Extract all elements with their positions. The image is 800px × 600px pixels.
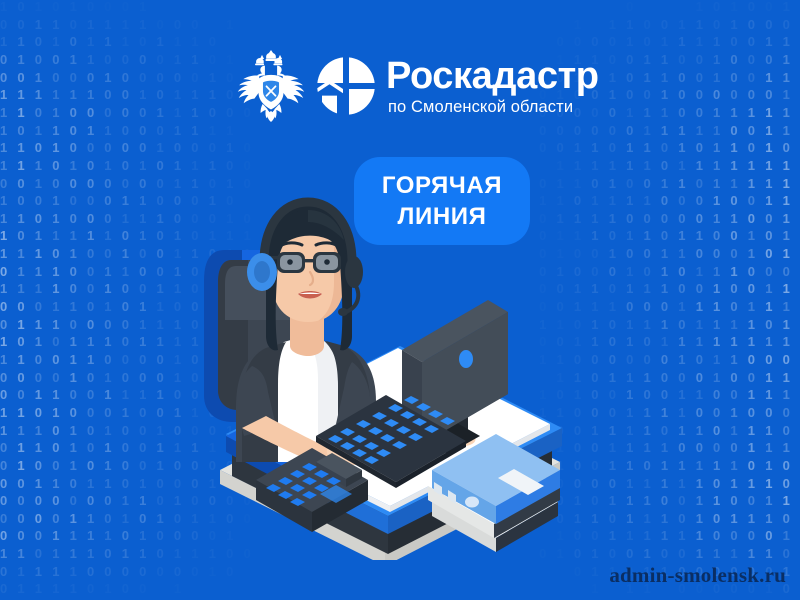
binary-digit: 0 <box>70 406 77 419</box>
binary-digit: 1 <box>661 529 668 542</box>
binary-digit: 1 <box>17 35 24 48</box>
binary-digit: 1 <box>696 388 703 401</box>
binary-digit: 1 <box>730 141 737 154</box>
binary-digit: 0 <box>730 229 737 242</box>
binary-digit: 1 <box>174 35 181 48</box>
binary-digit: 1 <box>174 582 181 595</box>
binary-digit: 0 <box>696 53 703 66</box>
binary-digit: 0 <box>122 282 129 295</box>
binary-digit: 1 <box>139 477 146 490</box>
binary-digit: 1 <box>104 159 111 172</box>
binary-digit: 0 <box>122 353 129 366</box>
binary-digit: 1 <box>35 0 42 13</box>
binary-digit: 1 <box>139 300 146 313</box>
roskadastr-house-circle-mark-icon <box>316 56 376 116</box>
binary-digit: 0 <box>765 265 772 278</box>
binary-digit: 0 <box>748 494 755 507</box>
binary-digit: 0 <box>765 318 772 331</box>
binary-digit: 0 <box>17 18 24 31</box>
binary-digit: 0 <box>765 529 772 542</box>
binary-digit: 0 <box>139 106 146 119</box>
binary-digit: 0 <box>748 35 755 48</box>
binary-digit: 0 <box>17 477 24 490</box>
binary-digit: 1 <box>783 0 790 13</box>
binary-digit: 1 <box>661 441 668 454</box>
binary-digit: 1 <box>765 71 772 84</box>
binary-digit: 0 <box>730 300 737 313</box>
binary-digit: 1 <box>713 282 720 295</box>
binary-digit: 0 <box>626 547 633 560</box>
binary-digit: 1 <box>783 247 790 260</box>
binary-digit: 0 <box>574 565 581 578</box>
binary-digit: 1 <box>644 194 651 207</box>
binary-digit: 1 <box>35 565 42 578</box>
binary-digit: 0 <box>661 18 668 31</box>
binary-digit: 1 <box>713 35 720 48</box>
binary-digit: 1 <box>104 124 111 137</box>
binary-digit: 1 <box>626 335 633 348</box>
binary-digit: 0 <box>748 141 755 154</box>
binary-digit: 0 <box>226 106 233 119</box>
binary-digit: 0 <box>678 53 685 66</box>
binary-digit: 1 <box>70 371 77 384</box>
binary-digit: 1 <box>713 547 720 560</box>
binary-digit: 0 <box>696 194 703 207</box>
binary-digit: 0 <box>139 353 146 366</box>
binary-digit: 1 <box>678 459 685 472</box>
binary-digit: 0 <box>17 124 24 137</box>
binary-digit: 1 <box>52 194 59 207</box>
binary-digit: 1 <box>157 35 164 48</box>
binary-digit: 1 <box>765 494 772 507</box>
binary-digit: 0 <box>122 459 129 472</box>
binary-digit: 1 <box>661 406 668 419</box>
binary-digit: 0 <box>644 265 651 278</box>
binary-digit: 0 <box>591 35 598 48</box>
binary-digit: 0 <box>0 18 7 31</box>
binary-digit: 0 <box>139 282 146 295</box>
binary-digit: 1 <box>713 300 720 313</box>
binary-digit: 0 <box>713 88 720 101</box>
binary-digit: 1 <box>52 141 59 154</box>
binary-digit: 1 <box>783 177 790 190</box>
binary-digit: 0 <box>730 388 737 401</box>
hotline-poster: 1010100010101001001101111000111100110100… <box>0 0 800 600</box>
binary-digit: 1 <box>17 441 24 454</box>
binary-digit: 1 <box>713 335 720 348</box>
binary-digit: 1 <box>626 477 633 490</box>
binary-digit: 1 <box>191 53 198 66</box>
binary-digit: 0 <box>678 212 685 225</box>
binary-digit: 0 <box>52 371 59 384</box>
binary-digit: 1 <box>139 194 146 207</box>
binary-digit: 1 <box>748 318 755 331</box>
binary-digit: 1 <box>661 477 668 490</box>
binary-digit: 0 <box>122 424 129 437</box>
binary-digit: 0 <box>626 247 633 260</box>
binary-digit: 0 <box>626 71 633 84</box>
binary-digit: 1 <box>730 212 737 225</box>
binary-digit: 0 <box>17 512 24 525</box>
binary-digit: 1 <box>209 565 216 578</box>
binary-digit: 0 <box>139 406 146 419</box>
binary-digit: 1 <box>783 229 790 242</box>
binary-digit: 0 <box>713 424 720 437</box>
binary-digit: 0 <box>52 159 59 172</box>
binary-digit: 1 <box>17 141 24 154</box>
binary-digit: 0 <box>52 53 59 66</box>
binary-digit: 1 <box>157 459 164 472</box>
binary-digit: 0 <box>139 53 146 66</box>
binary-digit: 1 <box>52 300 59 313</box>
binary-digit: 0 <box>35 512 42 525</box>
binary-digit: 1 <box>87 477 94 490</box>
binary-digit: 1 <box>0 229 7 242</box>
binary-digit: 0 <box>35 194 42 207</box>
binary-digit: 1 <box>661 177 668 190</box>
binary-digit: 0 <box>87 141 94 154</box>
binary-digit: 0 <box>0 529 7 542</box>
binary-digit: 1 <box>678 141 685 154</box>
binary-digit: 1 <box>713 106 720 119</box>
binary-digit: 1 <box>226 124 233 137</box>
binary-digit: 1 <box>678 406 685 419</box>
binary-digit: 1 <box>104 371 111 384</box>
binary-digit: 0 <box>748 371 755 384</box>
binary-digit: 0 <box>35 141 42 154</box>
binary-digit: 1 <box>174 124 181 137</box>
binary-digit: 0 <box>748 194 755 207</box>
binary-digit: 0 <box>70 318 77 331</box>
binary-digit: 0 <box>730 71 737 84</box>
binary-digit: 1 <box>139 529 146 542</box>
binary-digit: 1 <box>0 106 7 119</box>
binary-digit: 1 <box>748 335 755 348</box>
binary-digit: 1 <box>626 265 633 278</box>
binary-digit: 1 <box>661 53 668 66</box>
binary-digit: 1 <box>644 141 651 154</box>
binary-digit: 1 <box>626 512 633 525</box>
binary-digit: 1 <box>52 529 59 542</box>
binary-digit: 1 <box>0 212 7 225</box>
binary-digit: 1 <box>87 229 94 242</box>
binary-digit: 1 <box>17 106 24 119</box>
binary-digit: 1 <box>696 159 703 172</box>
binary-digit: 0 <box>661 424 668 437</box>
binary-digit: 1 <box>52 88 59 101</box>
binary-digit: 1 <box>644 512 651 525</box>
binary-digit: 0 <box>0 388 7 401</box>
binary-digit: 1 <box>765 300 772 313</box>
binary-digit: 0 <box>0 494 7 507</box>
binary-digit: 0 <box>139 35 146 48</box>
binary-digit: 0 <box>730 282 737 295</box>
binary-digit: 1 <box>157 441 164 454</box>
binary-digit: 0 <box>783 477 790 490</box>
binary-digit: 0 <box>35 212 42 225</box>
binary-digit: 1 <box>35 582 42 595</box>
binary-digit: 1 <box>748 229 755 242</box>
binary-digit: 0 <box>87 441 94 454</box>
binary-digit: 0 <box>748 212 755 225</box>
binary-digit: 1 <box>104 71 111 84</box>
binary-digit: 1 <box>104 229 111 242</box>
binary-digit: 1 <box>226 53 233 66</box>
binary-digit: 0 <box>765 88 772 101</box>
binary-digit: 1 <box>644 424 651 437</box>
binary-digit: 0 <box>87 494 94 507</box>
binary-digit: 1 <box>765 371 772 384</box>
binary-digit: 1 <box>0 35 7 48</box>
call-center-operator-illustration <box>180 140 620 560</box>
binary-digit: 0 <box>139 177 146 190</box>
binary-digit: 0 <box>157 247 164 260</box>
binary-digit: 1 <box>678 388 685 401</box>
binary-digit: 1 <box>87 512 94 525</box>
binary-digit: 1 <box>713 494 720 507</box>
binary-digit: 1 <box>696 318 703 331</box>
binary-digit: 0 <box>209 53 216 66</box>
binary-digit: 0 <box>748 406 755 419</box>
binary-digit: 0 <box>35 353 42 366</box>
binary-digit: 0 <box>191 71 198 84</box>
binary-digit: 1 <box>157 212 164 225</box>
binary-digit: 0 <box>748 265 755 278</box>
binary-digit: 1 <box>730 0 737 13</box>
binary-digit: 1 <box>0 282 7 295</box>
binary-digit: 1 <box>783 71 790 84</box>
binary-digit: 1 <box>0 88 7 101</box>
binary-digit: 0 <box>696 88 703 101</box>
binary-digit: 1 <box>70 582 77 595</box>
binary-digit: 0 <box>783 406 790 419</box>
binary-digit: 0 <box>748 88 755 101</box>
binary-digit: 1 <box>52 547 59 560</box>
binary-digit: 0 <box>609 53 616 66</box>
binary-digit: 0 <box>52 0 59 13</box>
binary-digit: 0 <box>157 494 164 507</box>
binary-digit: 0 <box>17 494 24 507</box>
binary-digit: 0 <box>661 300 668 313</box>
binary-digit: 1 <box>0 0 7 13</box>
binary-digit: 1 <box>661 71 668 84</box>
binary-digit: 1 <box>70 300 77 313</box>
binary-digit: 0 <box>678 88 685 101</box>
binary-digit: 0 <box>139 565 146 578</box>
binary-digit: 0 <box>730 88 737 101</box>
binary-digit: 1 <box>52 406 59 419</box>
binary-digit: 0 <box>70 265 77 278</box>
binary-digit: 0 <box>226 88 233 101</box>
binary-digit: 1 <box>591 582 598 595</box>
binary-digit: 0 <box>52 441 59 454</box>
binary-digit: 1 <box>644 529 651 542</box>
binary-digit: 1 <box>713 53 720 66</box>
binary-digit: 1 <box>730 318 737 331</box>
binary-digit: 1 <box>52 565 59 578</box>
binary-digit: 0 <box>191 565 198 578</box>
binary-digit: 1 <box>157 300 164 313</box>
binary-digit: 1 <box>0 547 7 560</box>
binary-digit: 0 <box>765 212 772 225</box>
binary-digit: 1 <box>765 388 772 401</box>
binary-digit: 0 <box>626 177 633 190</box>
binary-digit: 1 <box>626 159 633 172</box>
binary-digit: 1 <box>730 353 737 366</box>
binary-digit: 0 <box>748 18 755 31</box>
binary-digit: 0 <box>0 459 7 472</box>
binary-digit: 0 <box>157 353 164 366</box>
binary-digit: 1 <box>104 529 111 542</box>
binary-digit: 1 <box>696 512 703 525</box>
binary-digit: 0 <box>574 124 581 137</box>
binary-digit: 1 <box>0 247 7 260</box>
binary-digit: 1 <box>661 35 668 48</box>
binary-digit: 1 <box>139 494 146 507</box>
binary-digit: 0 <box>574 35 581 48</box>
binary-digit: 0 <box>70 282 77 295</box>
binary-digit: 1 <box>35 318 42 331</box>
binary-digit: 1 <box>157 106 164 119</box>
binary-digit: 0 <box>730 53 737 66</box>
binary-digit: 1 <box>661 106 668 119</box>
binary-digit: 1 <box>139 0 146 13</box>
binary-digit: 0 <box>678 512 685 525</box>
binary-digit: 0 <box>783 18 790 31</box>
binary-digit: 1 <box>713 141 720 154</box>
binary-digit: 1 <box>0 124 7 137</box>
binary-digit: 1 <box>748 424 755 437</box>
binary-digit: 1 <box>696 124 703 137</box>
binary-digit: 1 <box>730 477 737 490</box>
binary-digit: 1 <box>626 141 633 154</box>
binary-digit: 1 <box>87 18 94 31</box>
binary-digit: 0 <box>730 371 737 384</box>
binary-digit: 1 <box>0 424 7 437</box>
binary-digit: 0 <box>70 212 77 225</box>
binary-digit: 0 <box>35 547 42 560</box>
binary-digit: 0 <box>122 300 129 313</box>
binary-digit: 0 <box>174 71 181 84</box>
binary-digit: 1 <box>139 318 146 331</box>
binary-digit: 0 <box>157 159 164 172</box>
binary-digit: 1 <box>783 194 790 207</box>
binary-digit: 0 <box>157 406 164 419</box>
binary-digit: 1 <box>35 229 42 242</box>
binary-digit: 1 <box>104 477 111 490</box>
binary-digit: 1 <box>191 124 198 137</box>
binary-digit: 1 <box>748 512 755 525</box>
binary-digit: 1 <box>783 124 790 137</box>
binary-digit: 0 <box>122 141 129 154</box>
binary-digit: 1 <box>783 88 790 101</box>
binary-digit: 1 <box>644 124 651 137</box>
binary-digit: 1 <box>644 441 651 454</box>
binary-digit: 0 <box>174 565 181 578</box>
binary-digit: 0 <box>644 35 651 48</box>
binary-digit: 1 <box>626 406 633 419</box>
binary-digit: 1 <box>70 512 77 525</box>
binary-digit: 1 <box>157 141 164 154</box>
binary-digit: 0 <box>139 247 146 260</box>
binary-digit: 1 <box>35 124 42 137</box>
binary-digit: 1 <box>609 71 616 84</box>
binary-digit: 0 <box>696 441 703 454</box>
binary-digit: 0 <box>0 71 7 84</box>
binary-digit: 0 <box>35 494 42 507</box>
binary-digit: 1 <box>713 459 720 472</box>
binary-digit: 1 <box>696 459 703 472</box>
russian-double-headed-eagle-emblem-icon <box>236 50 306 122</box>
binary-digit: 0 <box>748 459 755 472</box>
binary-digit: 0 <box>104 194 111 207</box>
binary-digit: 1 <box>783 300 790 313</box>
binary-digit: 1 <box>70 424 77 437</box>
binary-digit: 0 <box>17 71 24 84</box>
binary-digit: 1 <box>678 335 685 348</box>
binary-digit: 0 <box>713 441 720 454</box>
binary-digit: 1 <box>765 35 772 48</box>
binary-digit: 0 <box>644 177 651 190</box>
binary-digit: 0 <box>104 565 111 578</box>
binary-digit: 0 <box>226 565 233 578</box>
binary-digit: 1 <box>713 371 720 384</box>
binary-digit: 1 <box>174 106 181 119</box>
binary-digit: 0 <box>122 229 129 242</box>
binary-digit: 0 <box>157 565 164 578</box>
binary-digit: 0 <box>696 141 703 154</box>
binary-digit: 0 <box>0 371 7 384</box>
binary-digit: 1 <box>122 194 129 207</box>
binary-digit: 0 <box>696 106 703 119</box>
binary-digit: 0 <box>661 159 668 172</box>
binary-digit: 0 <box>87 212 94 225</box>
binary-digit: 1 <box>678 353 685 366</box>
binary-digit: 0 <box>139 371 146 384</box>
binary-digit: 1 <box>644 477 651 490</box>
binary-digit: 0 <box>139 512 146 525</box>
binary-digit: 1 <box>17 459 24 472</box>
binary-digit: 0 <box>157 265 164 278</box>
binary-digit: 0 <box>713 0 720 13</box>
binary-digit: 0 <box>122 371 129 384</box>
binary-digit: 0 <box>52 177 59 190</box>
binary-digit: 0 <box>713 229 720 242</box>
binary-digit: 0 <box>0 300 7 313</box>
binary-digit: 0 <box>0 477 7 490</box>
binary-digit: 0 <box>0 565 7 578</box>
binary-digit: 1 <box>730 424 737 437</box>
binary-digit: 1 <box>696 18 703 31</box>
binary-digit: 1 <box>35 177 42 190</box>
binary-digit: 1 <box>591 565 598 578</box>
binary-digit: 1 <box>730 177 737 190</box>
binary-digit: 0 <box>87 371 94 384</box>
binary-digit: 0 <box>626 353 633 366</box>
binary-digit: 1 <box>35 388 42 401</box>
binary-digit: 1 <box>765 477 772 490</box>
binary-digit: 0 <box>609 106 616 119</box>
binary-digit: 1 <box>626 318 633 331</box>
binary-digit: 1 <box>783 371 790 384</box>
binary-digit: 0 <box>104 177 111 190</box>
binary-digit: 1 <box>70 159 77 172</box>
binary-digit: 0 <box>87 300 94 313</box>
binary-digit: 1 <box>157 512 164 525</box>
binary-digit: 1 <box>35 159 42 172</box>
binary-digit: 0 <box>87 0 94 13</box>
binary-digit: 1 <box>748 388 755 401</box>
